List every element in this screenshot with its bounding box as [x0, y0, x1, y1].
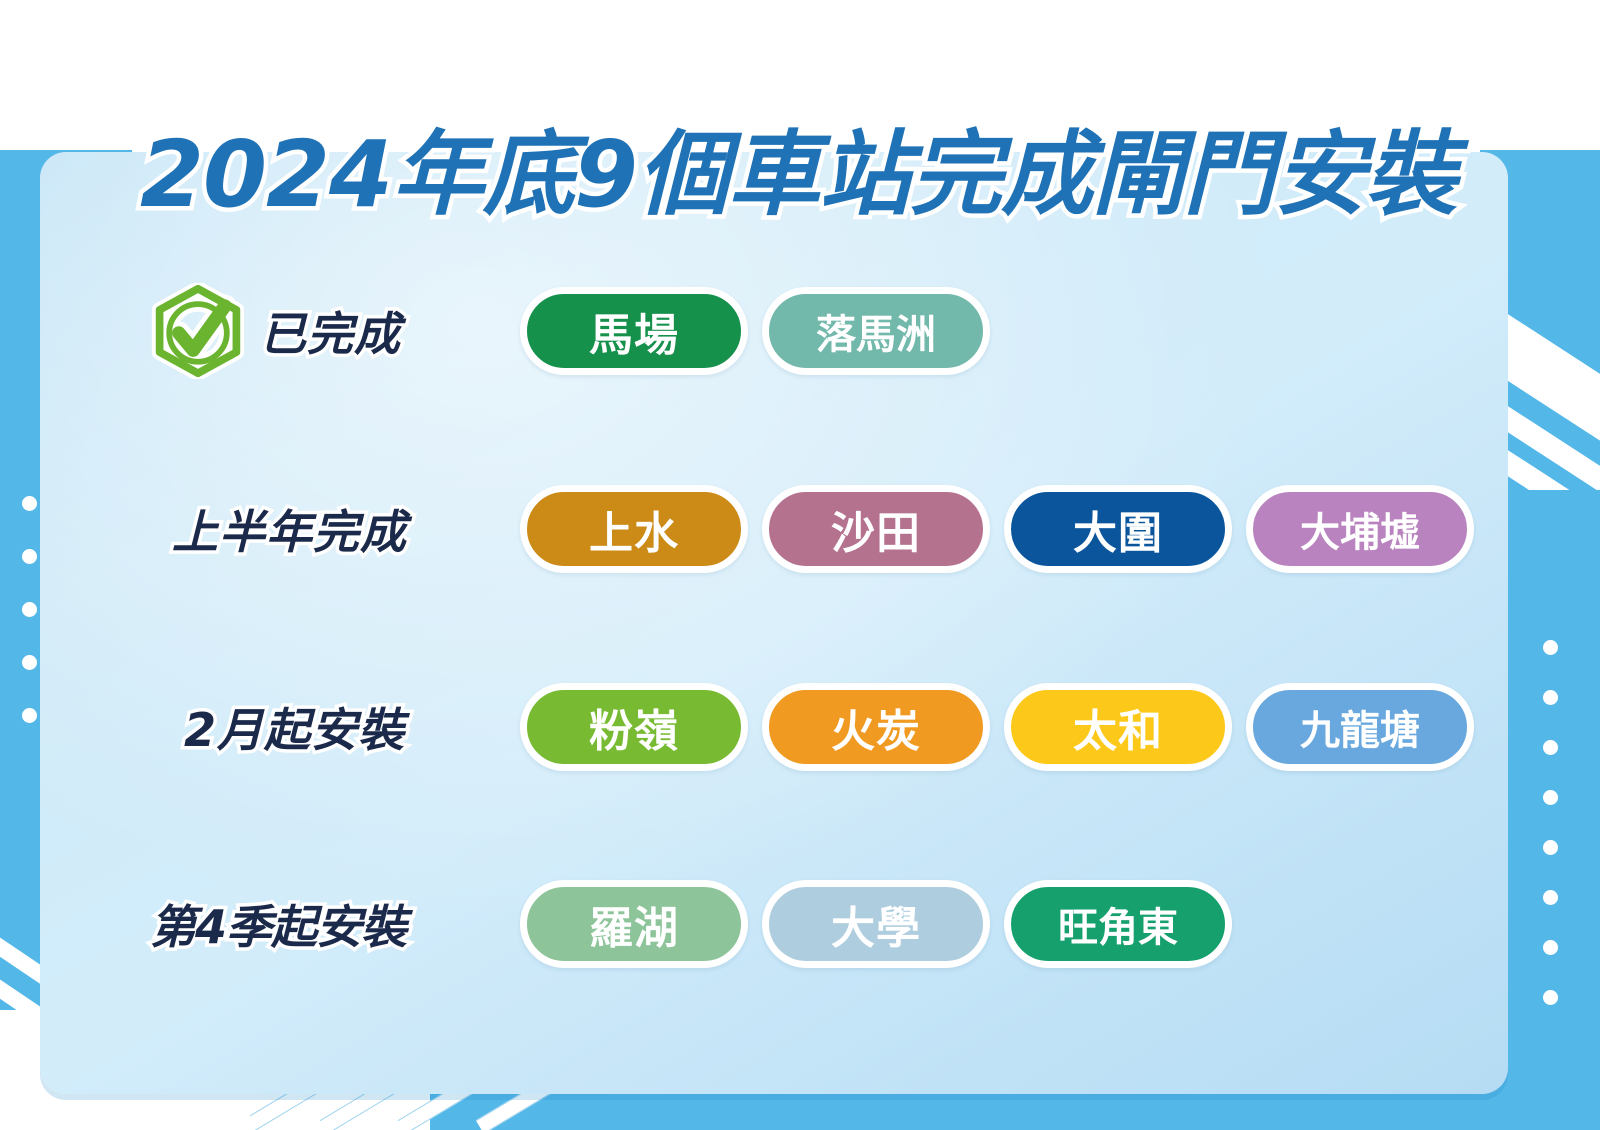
- station-pill-group: 馬場 落馬洲: [520, 287, 990, 375]
- check-shield-icon: [150, 283, 246, 379]
- station-pill-group: 上水 沙田 大圍 大埔墟: [520, 485, 1474, 573]
- station-pill[interactable]: 落馬洲: [762, 287, 990, 375]
- station-pill[interactable]: 大圍: [1004, 485, 1232, 573]
- station-pill-group: 粉嶺 火炭 太和 九龍塘: [520, 683, 1474, 771]
- row-completed: 已完成 馬場 落馬洲: [150, 283, 990, 379]
- row-from-q4: 第4季起安裝 羅湖 大學 旺角東: [150, 876, 1232, 972]
- row-from-february: 2月起安裝 粉嶺 火炭 太和 九龍塘: [150, 679, 1474, 775]
- row-label: 第4季起安裝: [150, 891, 406, 957]
- row-header: 2月起安裝: [150, 679, 510, 775]
- infographic-canvas: 2024年底9個車站完成閘門安裝 已完成 馬場: [0, 0, 1600, 1130]
- station-pill[interactable]: 沙田: [762, 485, 990, 573]
- station-pill[interactable]: 上水: [520, 485, 748, 573]
- row-label: 2月起安裝: [184, 694, 405, 760]
- row-label: 已完成: [260, 298, 401, 364]
- row-first-half-year: 上半年完成 上水 沙田 大圍 大埔墟: [150, 481, 1474, 577]
- row-header: 已完成: [150, 283, 510, 379]
- page-title: 2024年底9個車站完成閘門安裝: [140, 100, 1456, 233]
- row-header: 第4季起安裝: [150, 876, 510, 972]
- station-pill[interactable]: 大埔墟: [1246, 485, 1474, 573]
- station-pill[interactable]: 粉嶺: [520, 683, 748, 771]
- station-pill[interactable]: 九龍塘: [1246, 683, 1474, 771]
- station-pill[interactable]: 大學: [762, 880, 990, 968]
- row-header: 上半年完成: [150, 481, 510, 577]
- station-pill[interactable]: 旺角東: [1004, 880, 1232, 968]
- row-label: 上半年完成: [172, 496, 407, 562]
- station-pill[interactable]: 火炭: [762, 683, 990, 771]
- station-pill-group: 羅湖 大學 旺角東: [520, 880, 1232, 968]
- station-pill[interactable]: 馬場: [520, 287, 748, 375]
- station-pill[interactable]: 羅湖: [520, 880, 748, 968]
- station-pill[interactable]: 太和: [1004, 683, 1232, 771]
